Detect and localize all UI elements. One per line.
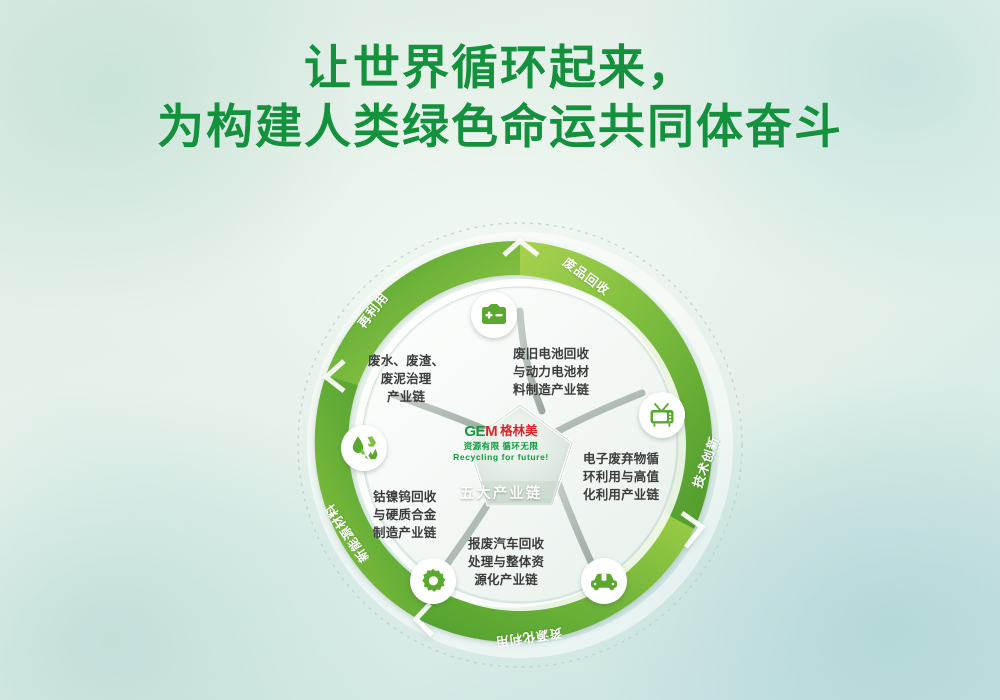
segment-line: 处理与整体资 bbox=[468, 553, 544, 571]
segment-label-battery-recycling: 废旧电池回收 与动力电池材 料制造产业链 bbox=[513, 345, 589, 399]
gear-icon bbox=[410, 558, 456, 604]
segment-line: 环利用与高值 bbox=[583, 468, 659, 486]
center-caption: 五大产业链 bbox=[443, 482, 559, 503]
segment-label-e-waste: 电子废弃物循 环利用与高值 化利用产业链 bbox=[583, 450, 659, 504]
segment-line: 料制造产业链 bbox=[513, 381, 589, 399]
logo-slogan-en: Recycling for future! bbox=[443, 453, 559, 462]
segment-line: 源化产业链 bbox=[468, 571, 544, 589]
brand-logo: GEM 格林美 资源有限 循环无限 Recycling for future! bbox=[443, 424, 559, 463]
poster-canvas: 让世界循环起来， 为构建人类绿色命运共同体奋斗 bbox=[0, 0, 1000, 700]
segment-line: 制造产业链 bbox=[373, 524, 437, 542]
segment-line: 钴镍钨回收 bbox=[373, 488, 437, 506]
logo-chinese-name: 格林美 bbox=[500, 425, 538, 438]
segment-line: 废旧电池回收 bbox=[513, 345, 589, 363]
headline-line-2: 为构建人类绿色命运共同体奋斗 bbox=[0, 97, 1000, 156]
logo-slogan-cn: 资源有限 循环无限 bbox=[443, 442, 559, 451]
segment-label-cobalt-nickel-tungsten: 钴镍钨回收 与硬质合金 制造产业链 bbox=[373, 488, 437, 542]
segment-line: 化利用产业链 bbox=[583, 486, 659, 504]
segment-line: 产业链 bbox=[368, 388, 444, 406]
television-icon bbox=[639, 392, 685, 438]
segment-line: 电子废弃物循 bbox=[583, 450, 659, 468]
logo-gem-text: GEM bbox=[464, 424, 497, 439]
segment-line: 与动力电池材 bbox=[513, 363, 589, 381]
segment-line: 废水、废渣、 bbox=[368, 352, 444, 370]
segment-line: 废泥治理 bbox=[368, 370, 444, 388]
headline-line-1: 让世界循环起来， bbox=[0, 38, 1000, 97]
battery-icon bbox=[471, 292, 517, 338]
segment-line: 与硬质合金 bbox=[373, 506, 437, 524]
segment-line: 报废汽车回收 bbox=[468, 535, 544, 553]
segment-label-waste-treatment: 废水、废渣、 废泥治理 产业链 bbox=[368, 352, 444, 406]
segment-label-end-of-life-vehicle: 报废汽车回收 处理与整体资 源化产业链 bbox=[468, 535, 544, 589]
logo-wordmark-row: GEM 格林美 bbox=[443, 424, 559, 439]
car-icon bbox=[581, 558, 627, 604]
recycle-waterdrop-icon bbox=[341, 425, 387, 471]
headline: 让世界循环起来， 为构建人类绿色命运共同体奋斗 bbox=[0, 38, 1000, 156]
